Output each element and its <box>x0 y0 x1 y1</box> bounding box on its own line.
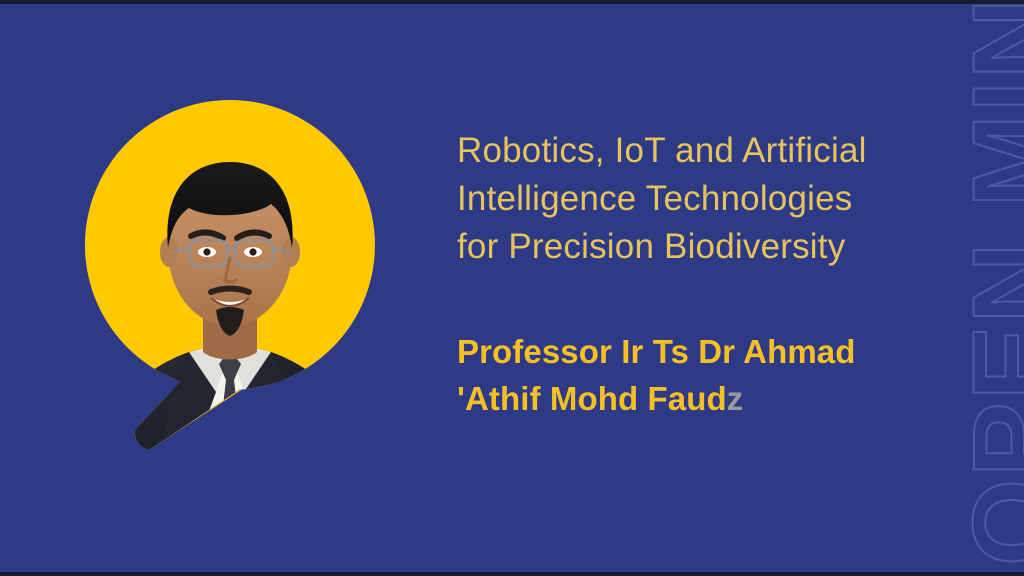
speaker-name: Professor Ir Ts Dr Ahmad 'Athif Mohd Fau… <box>457 328 957 422</box>
session-title-line-3: for Precision Biodiversity <box>457 223 957 271</box>
text-block: Robotics, IoT and Artificial Intelligenc… <box>457 127 957 422</box>
speaker-name-line-1: Professor Ir Ts Dr Ahmad <box>457 328 957 375</box>
speaker-name-line-2: 'Athif Mohd Faudz <box>457 375 957 422</box>
speaker-name-trailing-char: z <box>727 380 744 417</box>
portrait-bubble-graphic <box>85 100 375 455</box>
speaker-name-line-2-main: 'Athif Mohd Faud <box>457 380 727 417</box>
letterbox-bar-top <box>0 0 1024 4</box>
session-title: Robotics, IoT and Artificial Intelligenc… <box>457 127 957 271</box>
title-slide: OPEN MINDS' SPARK IDEAS <box>0 0 1024 576</box>
watermark-open-minds: OPEN MINDS' <box>948 0 1024 566</box>
session-title-line-2: Intelligence Technologies <box>457 175 957 223</box>
speaker-portrait <box>85 100 375 455</box>
letterbox-bar-bottom <box>0 572 1024 576</box>
session-title-line-1: Robotics, IoT and Artificial <box>457 127 957 175</box>
